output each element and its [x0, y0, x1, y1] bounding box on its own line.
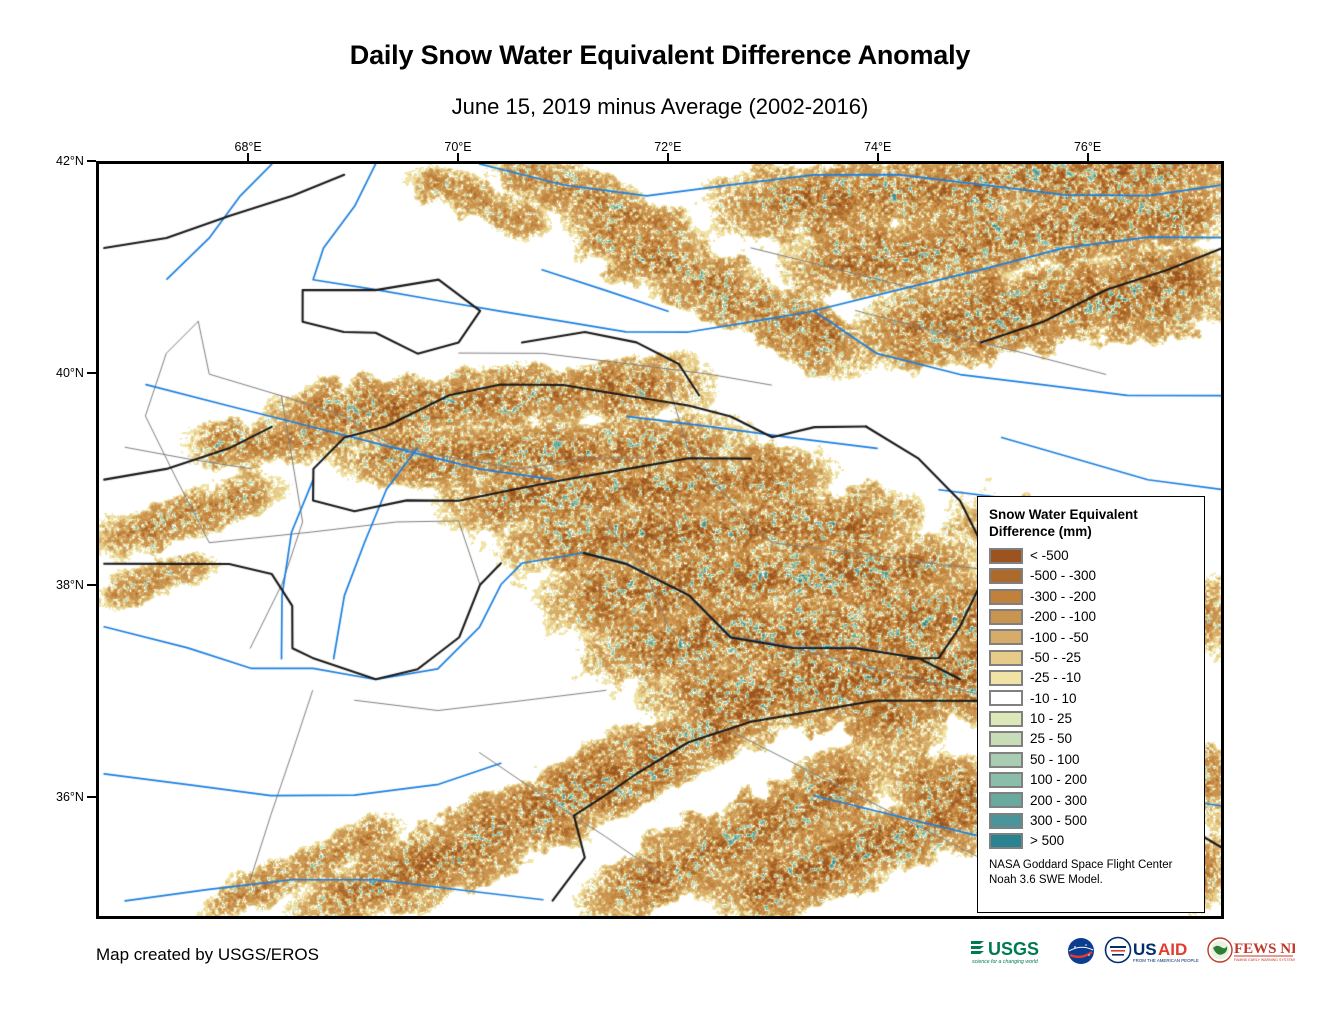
svg-text:FAMINE EARLY WARNING SYSTEMS N: FAMINE EARLY WARNING SYSTEMS NETWORK [1234, 958, 1295, 962]
svg-text:USGS: USGS [988, 939, 1039, 959]
legend-swatch [989, 670, 1023, 686]
legend-swatch [989, 711, 1023, 727]
legend-row: 300 - 500 [989, 811, 1194, 831]
legend-label: -100 - -50 [1030, 631, 1089, 645]
svg-text:US: US [1133, 940, 1157, 959]
legend-label: -10 - 10 [1030, 692, 1077, 706]
legend-label: -200 - -100 [1030, 610, 1096, 624]
legend-title: Snow Water Equivalent Difference (mm) [989, 506, 1194, 541]
lat-tick [87, 584, 96, 586]
lon-label: 76°E [1074, 140, 1101, 154]
legend-label: -25 - -10 [1030, 671, 1081, 685]
legend-swatch [989, 548, 1023, 564]
lon-label: 74°E [864, 140, 891, 154]
lat-label: 38°N [56, 578, 84, 592]
lon-label: 72°E [654, 140, 681, 154]
lat-label: 36°N [56, 790, 84, 804]
lon-label: 70°E [444, 140, 471, 154]
lat-label: 40°N [56, 366, 84, 380]
legend-row: < -500 [989, 546, 1194, 566]
legend-row: -300 - -200 [989, 586, 1194, 606]
usaid-logo: US AID FROM THE AMERICAN PEOPLE [1104, 935, 1200, 967]
usgs-logo: USGS science for a changing world [970, 935, 1058, 967]
legend-row: -200 - -100 [989, 607, 1194, 627]
legend-label: > 500 [1030, 834, 1064, 848]
legend-label: 25 - 50 [1030, 732, 1072, 746]
legend-row: 50 - 100 [989, 749, 1194, 769]
legend-source-note: NASA Goddard Space Flight Center Noah 3.… [989, 858, 1194, 888]
fewsnet-logo: FEWS NET FAMINE EARLY WARNING SYSTEMS NE… [1207, 935, 1295, 967]
legend-label: 300 - 500 [1030, 814, 1087, 828]
svg-text:science for a changing world: science for a changing world [972, 959, 1039, 965]
lat-tick [87, 372, 96, 374]
legend-row: -500 - -300 [989, 566, 1194, 586]
legend-row: 100 - 200 [989, 770, 1194, 790]
legend-row: > 500 [989, 831, 1194, 851]
legend-swatch [989, 752, 1023, 768]
legend-label: 50 - 100 [1030, 753, 1080, 767]
page-subtitle: June 15, 2019 minus Average (2002-2016) [0, 94, 1320, 120]
lat-tick [87, 796, 96, 798]
legend-swatch [989, 731, 1023, 747]
legend-label: 100 - 200 [1030, 773, 1087, 787]
legend-swatch [989, 690, 1023, 706]
legend-swatch [989, 813, 1023, 829]
legend-label: < -500 [1030, 549, 1069, 563]
legend-row: -50 - -25 [989, 647, 1194, 667]
legend-row: -10 - 10 [989, 688, 1194, 708]
legend-row: 200 - 300 [989, 790, 1194, 810]
legend-label: 200 - 300 [1030, 794, 1087, 808]
svg-text:AID: AID [1158, 940, 1187, 959]
legend-swatch [989, 568, 1023, 584]
map-credit: Map created by USGS/EROS [96, 945, 319, 965]
svg-text:FEWS NET: FEWS NET [1234, 941, 1295, 957]
legend-swatch [989, 609, 1023, 625]
nasa-logo [1065, 935, 1097, 967]
svg-text:FROM THE AMERICAN PEOPLE: FROM THE AMERICAN PEOPLE [1133, 958, 1199, 963]
legend-label: 10 - 25 [1030, 712, 1072, 726]
logo-row: USGS science for a changing world US AID… [970, 935, 1295, 967]
legend-swatch [989, 589, 1023, 605]
legend-swatch [989, 629, 1023, 645]
legend-row: -25 - -10 [989, 668, 1194, 688]
legend-row: 25 - 50 [989, 729, 1194, 749]
legend-swatch [989, 772, 1023, 788]
lat-tick [87, 160, 96, 162]
legend-label: -500 - -300 [1030, 569, 1096, 583]
legend-row: -100 - -50 [989, 627, 1194, 647]
legend-label: -300 - -200 [1030, 590, 1096, 604]
lat-label: 42°N [56, 154, 84, 168]
legend-swatch [989, 792, 1023, 808]
legend-swatch [989, 650, 1023, 666]
legend-row: 10 - 25 [989, 709, 1194, 729]
legend-panel: Snow Water Equivalent Difference (mm) < … [977, 496, 1205, 913]
legend-label: -50 - -25 [1030, 651, 1081, 665]
lon-label: 68°E [235, 140, 262, 154]
page-title: Daily Snow Water Equivalent Difference A… [0, 40, 1320, 71]
legend-class-list: < -500-500 - -300-300 - -200-200 - -100-… [989, 546, 1194, 852]
legend-swatch [989, 833, 1023, 849]
